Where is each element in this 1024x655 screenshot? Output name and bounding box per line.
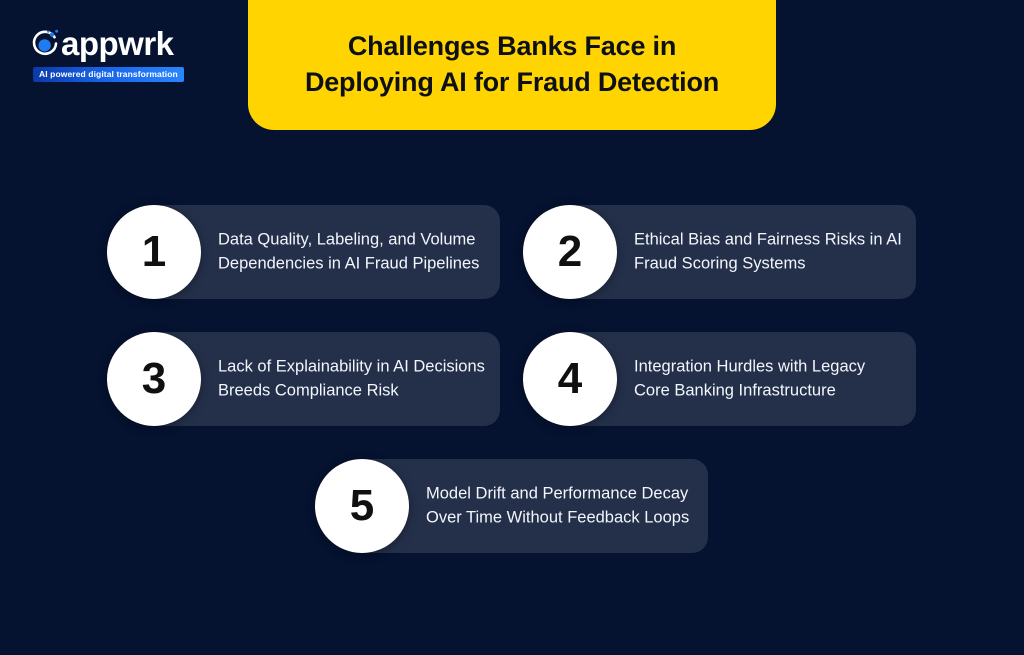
card-label: Data Quality, Labeling, and Volume Depen… xyxy=(218,228,486,277)
brand-logo: appwrk AI powered digital transformation xyxy=(28,24,178,82)
logo-tagline: AI powered digital transformation xyxy=(33,67,184,82)
card-number-badge: 4 xyxy=(523,332,617,426)
card-label: Model Drift and Performance Decay Over T… xyxy=(426,482,694,531)
card-label: Lack of Explainability in AI Decisions B… xyxy=(218,355,486,404)
card-label: Ethical Bias and Fairness Risks in AI Fr… xyxy=(634,228,902,277)
page-title-line-1: Challenges Banks Face in xyxy=(348,31,676,61)
card-number: 5 xyxy=(350,484,374,528)
challenge-card[interactable]: 4 Integration Hurdles with Legacy Core B… xyxy=(566,332,916,426)
title-banner: Challenges Banks Face in Deploying AI fo… xyxy=(248,0,776,130)
challenge-card[interactable]: 2 Ethical Bias and Fairness Risks in AI … xyxy=(566,205,916,299)
page-title: Challenges Banks Face in Deploying AI fo… xyxy=(305,29,719,101)
card-number: 1 xyxy=(142,230,166,274)
card-number-badge: 2 xyxy=(523,205,617,299)
card-number-badge: 5 xyxy=(315,459,409,553)
page-title-line-2: Deploying AI for Fraud Detection xyxy=(305,67,719,97)
logo-row: appwrk xyxy=(28,24,178,64)
challenge-card[interactable]: 3 Lack of Explainability in AI Decisions… xyxy=(150,332,500,426)
card-number-badge: 1 xyxy=(107,205,201,299)
logo-wordmark: appwrk xyxy=(61,27,174,61)
card-number: 2 xyxy=(558,230,582,274)
appwrk-circle-dot-icon xyxy=(28,27,62,61)
card-number: 3 xyxy=(142,357,166,401)
card-label: Integration Hurdles with Legacy Core Ban… xyxy=(634,355,902,404)
challenge-card[interactable]: 5 Model Drift and Performance Decay Over… xyxy=(358,459,708,553)
challenge-card[interactable]: 1 Data Quality, Labeling, and Volume Dep… xyxy=(150,205,500,299)
card-number: 4 xyxy=(558,357,582,401)
card-number-badge: 3 xyxy=(107,332,201,426)
